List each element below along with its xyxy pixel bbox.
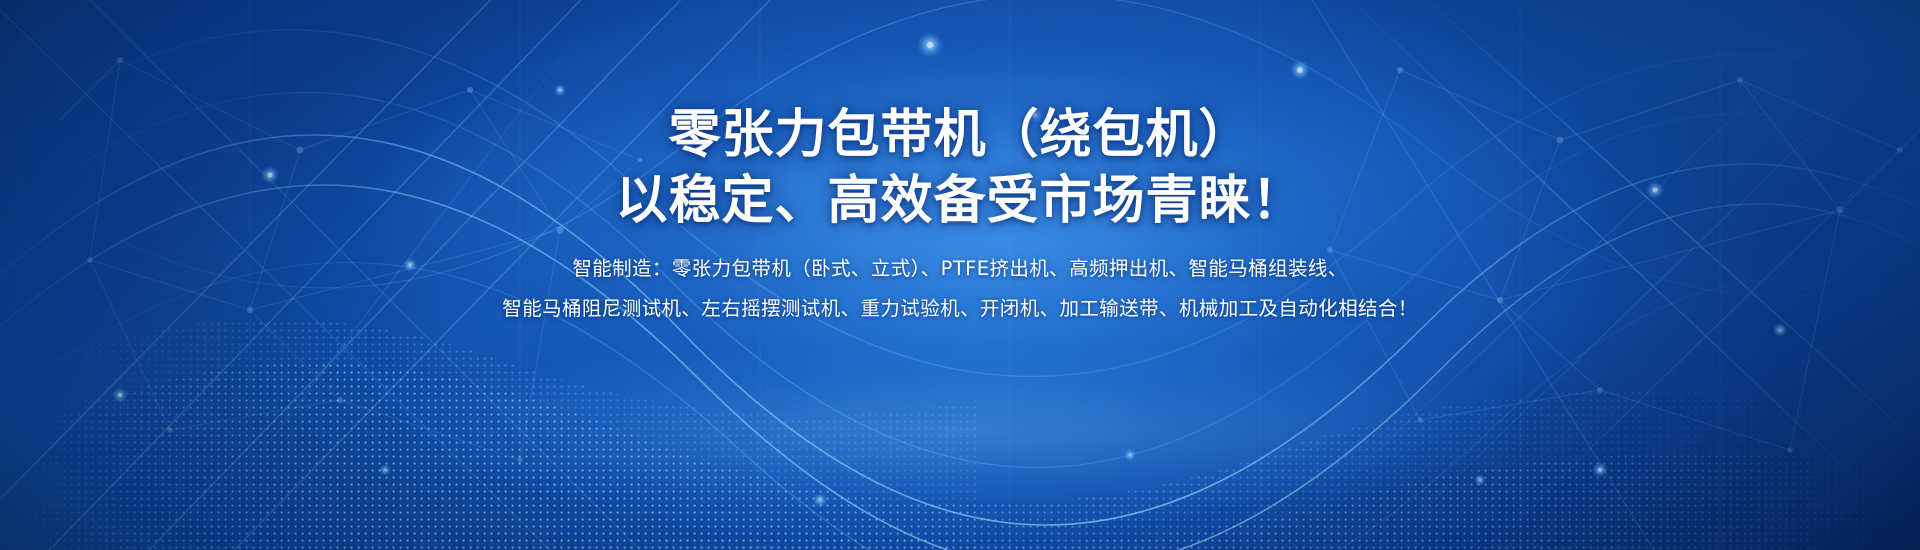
hero-banner: 零张力包带机（绕包机） 以稳定、高效备受市场青睐！ 智能制造：零张力包带机（卧式… — [0, 0, 1920, 550]
banner-title-line-1: 零张力包带机（绕包机） — [668, 104, 1251, 166]
banner-subtitle-line-2: 智能马桶阻尼测试机、左右摇摆测试机、重力试验机、开闭机、加工输送带、机械加工及自… — [502, 296, 1417, 322]
banner-title-line-2: 以稳定、高效备受市场青睐！ — [615, 170, 1304, 232]
banner-subtitle-line-1: 智能制造：零张力包带机（卧式、立式）、PTFE挤出机、高频押出机、智能马桶组装线… — [502, 256, 1417, 282]
banner-subtitle: 智能制造：零张力包带机（卧式、立式）、PTFE挤出机、高频押出机、智能马桶组装线… — [502, 256, 1417, 322]
banner-content: 零张力包带机（绕包机） 以稳定、高效备受市场青睐！ 智能制造：零张力包带机（卧式… — [0, 0, 1920, 550]
